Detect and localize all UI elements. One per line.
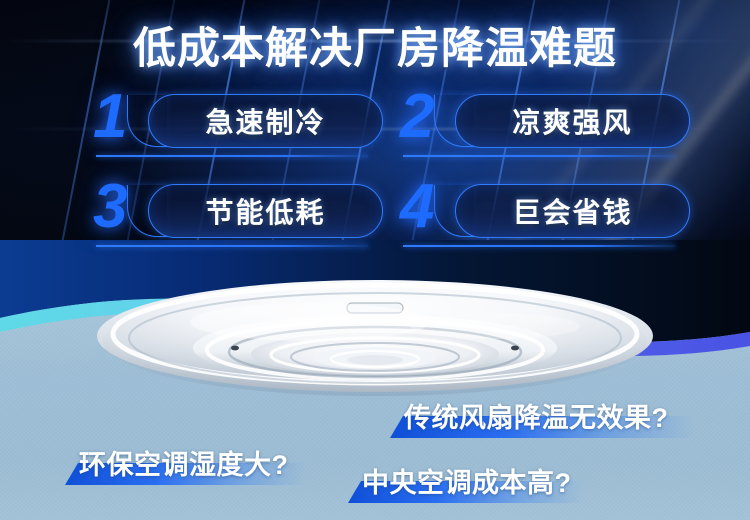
feature-pill[interactable]: 急速制冷 [148, 94, 383, 148]
product-ceiling-fan-icon [95, 276, 655, 416]
question-label-central-ac-cost: 中央空调成本高? [348, 461, 608, 503]
feature-item-1[interactable]: 1 急速制冷 [93, 92, 383, 158]
question-label-text: 环保空调湿度大? [79, 443, 289, 482]
feature-label: 巨会省钱 [512, 191, 632, 231]
feature-number: 4 [400, 174, 434, 240]
feature-underline [403, 245, 675, 247]
feature-label: 急速制冷 [205, 101, 325, 141]
feature-pill[interactable]: 凉爽强风 [455, 94, 690, 148]
feature-number: 3 [93, 174, 127, 240]
question-label-eco-humidity: 环保空调湿度大? [65, 443, 330, 485]
feature-label: 凉爽强风 [512, 101, 632, 141]
question-label-text: 传统风扇降温无效果? [404, 396, 669, 435]
feature-underline [96, 245, 368, 247]
page-title: 低成本解决厂房降温难题 [0, 14, 750, 76]
feature-item-2[interactable]: 2 凉爽强风 [400, 92, 690, 158]
feature-item-3[interactable]: 3 节能低耗 [93, 182, 383, 248]
question-label-text: 中央空调成本高? [362, 461, 572, 500]
promo-banner: 低成本解决厂房降温难题 1 急速制冷 2 凉爽强风 3 节能低耗 4 巨会省钱 [0, 0, 750, 520]
feature-pill[interactable]: 节能低耗 [148, 184, 383, 238]
feature-pill[interactable]: 巨会省钱 [455, 184, 690, 238]
question-label-traditional-fan: 传统风扇降温无效果? [390, 396, 720, 438]
feature-label: 节能低耗 [205, 191, 325, 231]
feature-item-4[interactable]: 4 巨会省钱 [400, 182, 690, 248]
feature-underline [96, 155, 368, 157]
feature-underline [403, 155, 675, 157]
feature-number: 2 [400, 84, 434, 150]
feature-number: 1 [93, 84, 127, 150]
